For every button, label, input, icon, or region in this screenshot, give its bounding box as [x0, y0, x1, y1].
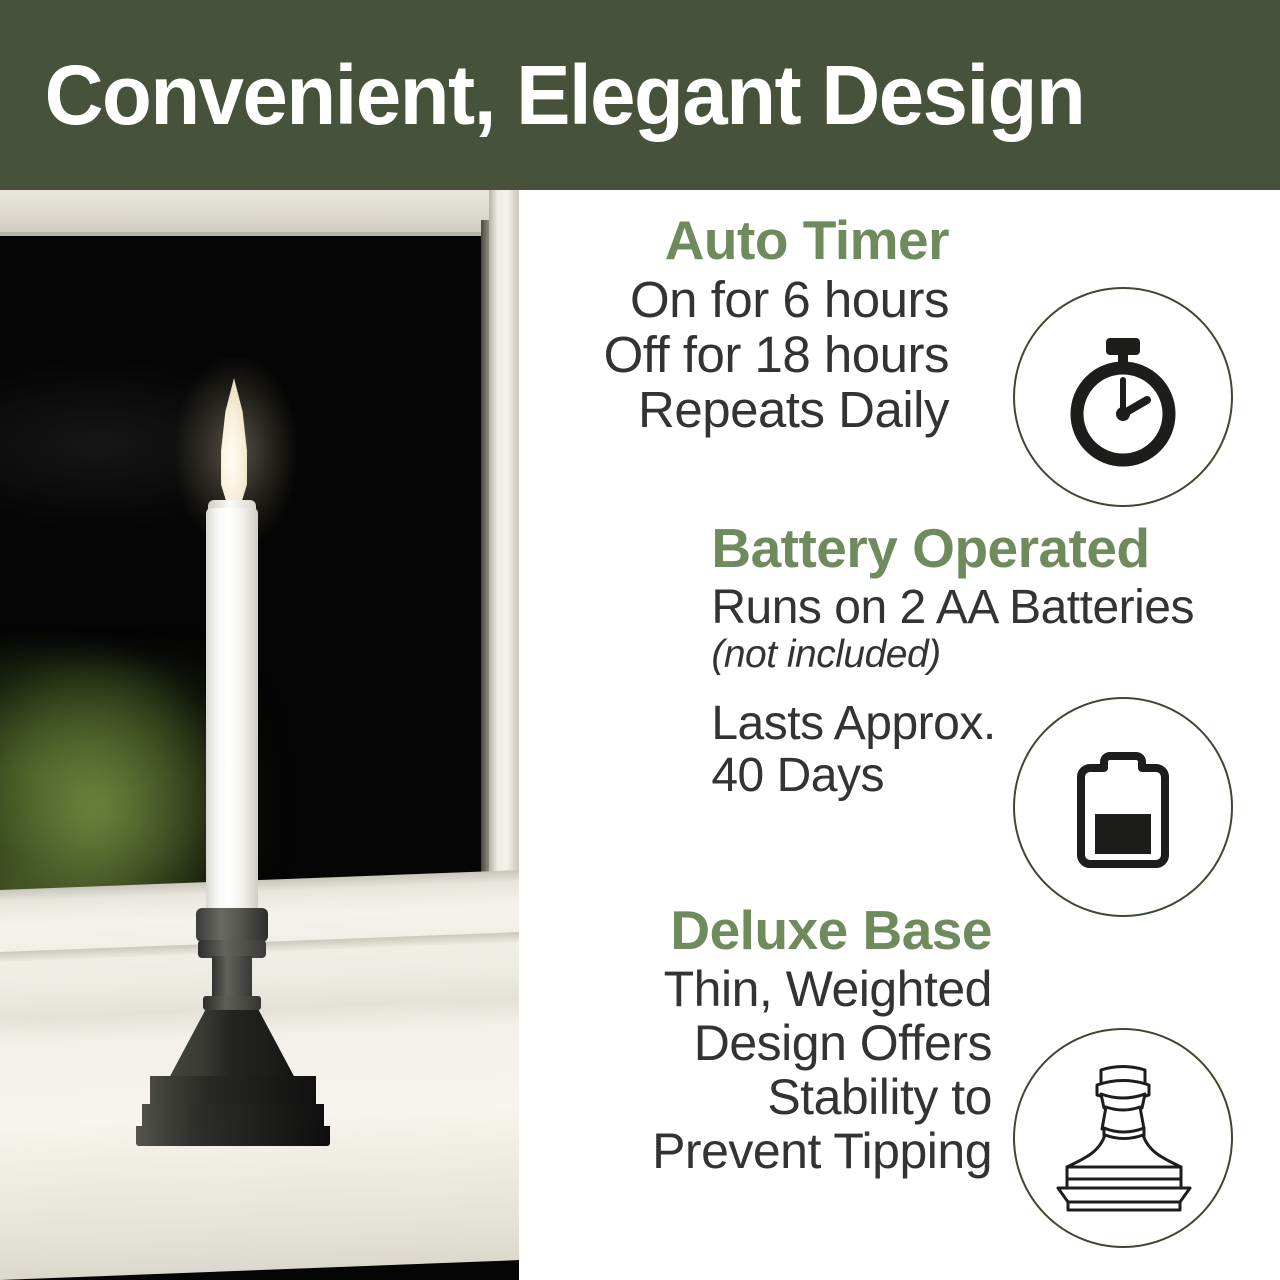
battery-icon: [1013, 697, 1233, 917]
feature-deluxe-base-lines: Thin, Weighted Design Offers Stability t…: [652, 962, 992, 1178]
feature-line: Runs on 2 AA Batteries: [711, 582, 1194, 634]
pedestal-base-icon: [1013, 1028, 1233, 1248]
feature-deluxe-base-heading: Deluxe Base: [652, 902, 992, 958]
feature-line: Stability to: [652, 1070, 992, 1124]
feature-line: Prevent Tipping: [652, 1124, 992, 1178]
window-frame-right: [489, 190, 519, 980]
feature-auto-timer-lines: On for 6 hours Off for 18 hours Repeats …: [604, 272, 949, 437]
pedestal-ring-lower: [203, 996, 261, 1010]
window-frame-top-edge: [0, 232, 500, 236]
feature-auto-timer-heading: Auto Timer: [604, 212, 949, 268]
feature-line: Repeats Daily: [604, 382, 949, 437]
pedestal-stem: [212, 956, 252, 1000]
feature-line-note: (not included): [711, 634, 1194, 676]
pedestal-plinth-upper: [150, 1076, 316, 1106]
pedestal-foot: [136, 1126, 330, 1146]
candle-stick: [206, 508, 258, 920]
feature-line: Thin, Weighted: [652, 962, 992, 1016]
pedestal-plinth-lower: [142, 1104, 324, 1128]
window-frame-top: [0, 190, 519, 232]
product-photo: [0, 190, 519, 1280]
feature-line: Off for 18 hours: [604, 327, 949, 382]
infographic-page: Convenient, Elegant Design Auto Timer: [0, 0, 1280, 1280]
feature-line: On for 6 hours: [604, 272, 949, 327]
feature-battery-lines: Runs on 2 AA Batteries (not included): [711, 582, 1194, 676]
feature-auto-timer-text: Auto Timer On for 6 hours Off for 18 hou…: [604, 212, 949, 437]
pedestal-neck: [196, 908, 268, 942]
stopwatch-icon: [1013, 287, 1233, 507]
page-title: Convenient, Elegant Design: [0, 53, 1084, 137]
feature-deluxe-base-text: Deluxe Base Thin, Weighted Design Offers…: [652, 902, 992, 1178]
features-panel: Auto Timer On for 6 hours Off for 18 hou…: [519, 190, 1280, 1280]
window-frame-right-inner: [481, 220, 489, 980]
header-banner: Convenient, Elegant Design: [0, 0, 1280, 190]
feature-battery-heading: Battery Operated: [711, 520, 1194, 576]
feature-line: Design Offers: [652, 1016, 992, 1070]
